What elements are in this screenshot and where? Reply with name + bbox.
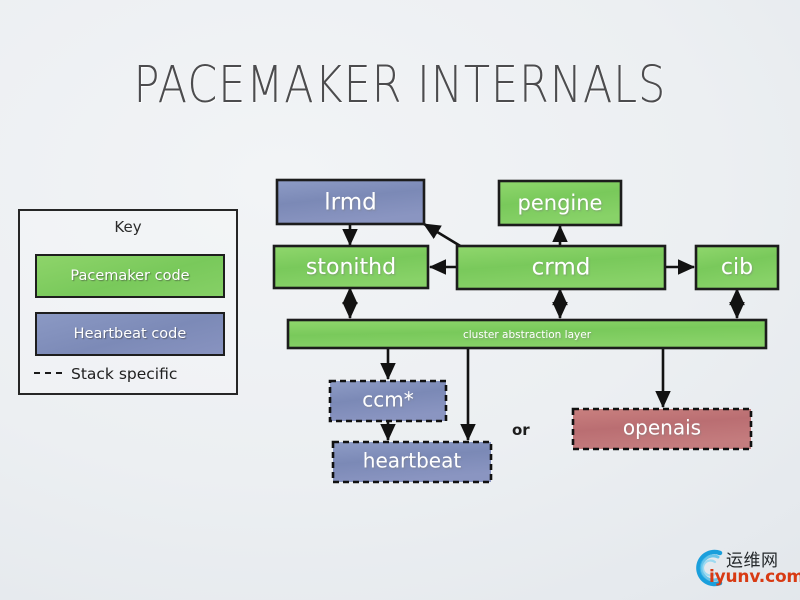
node-openais[interactable]: openais	[573, 409, 751, 449]
node-stonithd-label: stonithd	[306, 255, 396, 280]
node-lrmd-label: lrmd	[324, 190, 376, 216]
slide-canvas: PACEMAKER INTERNALS Key Pacemaker code H…	[0, 0, 800, 600]
node-crmd[interactable]: crmd	[457, 246, 665, 289]
node-cib-label: cib	[721, 255, 753, 280]
site-watermark: 运维网 iyunv.com	[690, 545, 794, 591]
node-lrmd[interactable]: lrmd	[277, 180, 424, 224]
node-cluster-abstraction-layer[interactable]: cluster abstraction layer	[288, 320, 766, 348]
pacemaker-architecture-diagram: lrmd pengine stonithd crmd cib cluster a…	[0, 0, 800, 600]
node-heartbeat-label: heartbeat	[363, 449, 462, 473]
node-heartbeat[interactable]: heartbeat	[333, 442, 491, 482]
node-openais-label: openais	[623, 416, 701, 440]
node-ccm[interactable]: ccm*	[330, 381, 446, 421]
watermark-url-text: iyunv.com	[709, 567, 800, 587]
node-pengine[interactable]: pengine	[499, 181, 621, 225]
edge-crmd-to-lrmd	[424, 224, 462, 247]
node-crmd-label: crmd	[532, 255, 591, 281]
node-stonithd[interactable]: stonithd	[274, 246, 428, 288]
node-pengine-label: pengine	[518, 191, 603, 215]
node-ccm-label: ccm*	[362, 388, 413, 412]
node-cluster-layer-label: cluster abstraction layer	[463, 329, 592, 341]
node-cib[interactable]: cib	[696, 246, 778, 289]
or-separator-label: or	[512, 421, 530, 439]
